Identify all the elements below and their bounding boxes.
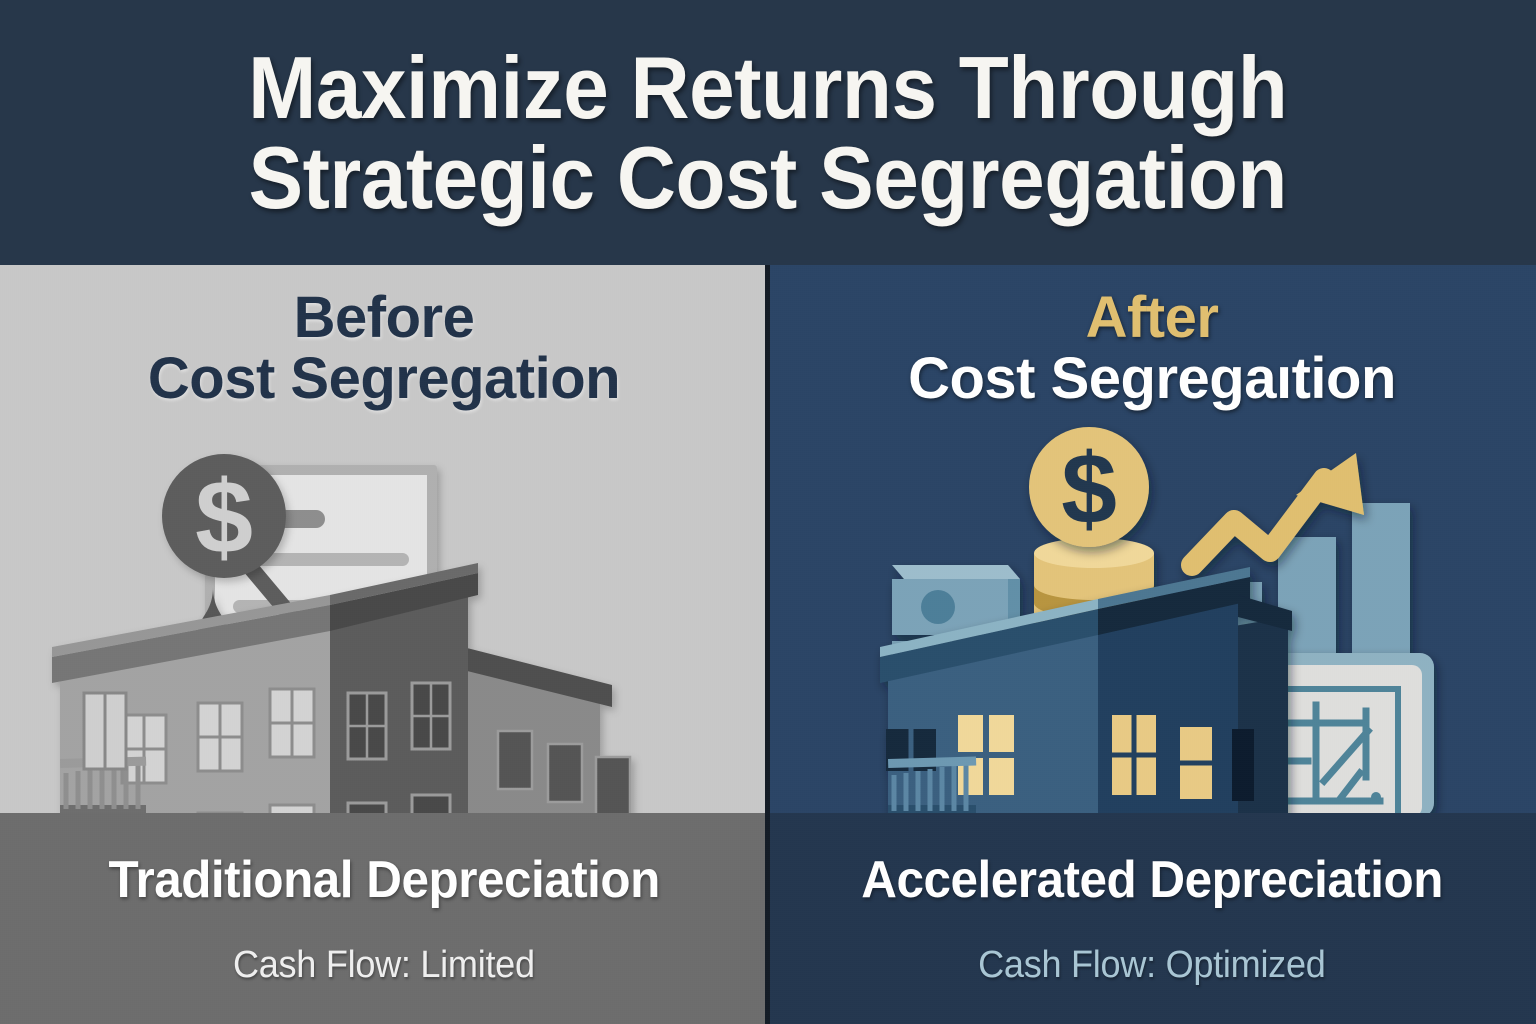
upward-arrow-icon	[1192, 453, 1364, 565]
before-caption-subtitle: Cash Flow: Limited	[233, 944, 535, 987]
before-caption-title: Traditional Depreciation	[108, 850, 659, 910]
before-caption-bar: Traditional Depreciation Cash Flow: Limi…	[0, 813, 768, 1024]
gold-dollar-coin-icon: $	[1029, 427, 1149, 547]
panel-divider	[765, 265, 770, 1024]
header-banner: Maximize Returns Through Strategic Cost …	[0, 0, 1536, 265]
after-caption-bar: Accelerated Depreciation Cash Flow: Opti…	[768, 813, 1536, 1024]
after-panel: $	[768, 265, 1536, 1024]
infographic-canvas: Maximize Returns Through Strategic Cost …	[0, 0, 1536, 1024]
dollar-coin-icon: $	[162, 454, 286, 578]
before-panel: $	[0, 265, 768, 1024]
svg-text:$: $	[195, 460, 253, 576]
apartment-building-icon	[52, 563, 630, 831]
page-title: Maximize Returns Through Strategic Cost …	[193, 43, 1344, 223]
svg-text:$: $	[1061, 433, 1117, 545]
after-caption-subtitle: Cash Flow: Optimized	[978, 944, 1325, 987]
after-caption-title: Accelerated Depreciation	[861, 850, 1443, 910]
